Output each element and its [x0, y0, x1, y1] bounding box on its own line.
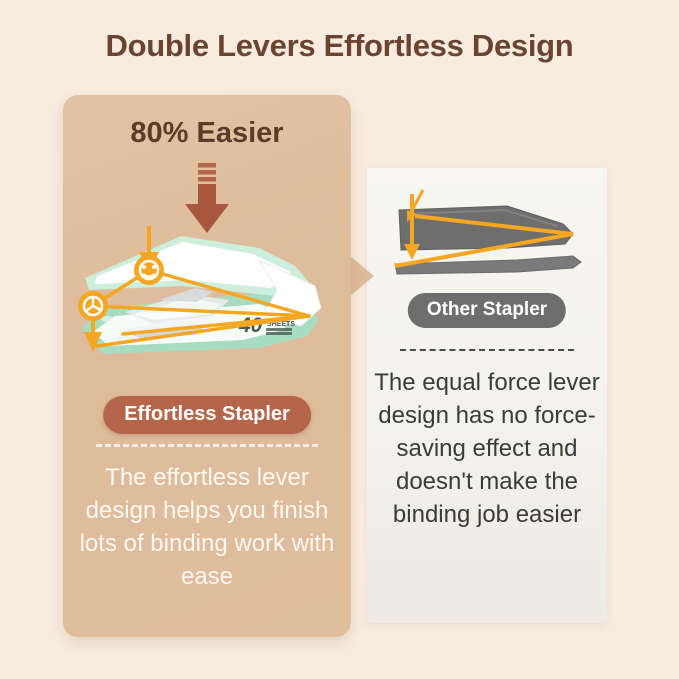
right-divider — [400, 349, 574, 351]
left-divider — [96, 444, 318, 447]
page-title: Double Levers Effortless Design — [0, 28, 679, 64]
effortless-stapler-description: The effortless lever design helps you fi… — [74, 461, 340, 593]
pivot-point-upper — [134, 255, 164, 285]
other-stapler-badge: Other Stapler — [408, 293, 566, 328]
infographic-canvas: Double Levers Effortless Design — [0, 0, 679, 679]
effortless-stapler-badge: Effortless Stapler — [103, 396, 311, 434]
other-stapler-panel: Other Stapler The equal force lever desi… — [367, 168, 607, 623]
other-stapler-illustration — [367, 176, 607, 296]
easier-headline: 80% Easier — [63, 117, 351, 150]
pivot-point-lower — [78, 291, 108, 321]
effortless-stapler-panel: 80% Easier — [63, 95, 351, 637]
comparison-pointer-icon — [350, 256, 374, 296]
effortless-stapler-illustration: 40 SHEETS — [63, 220, 351, 375]
other-stapler-description: The equal force lever design has no forc… — [372, 366, 602, 532]
